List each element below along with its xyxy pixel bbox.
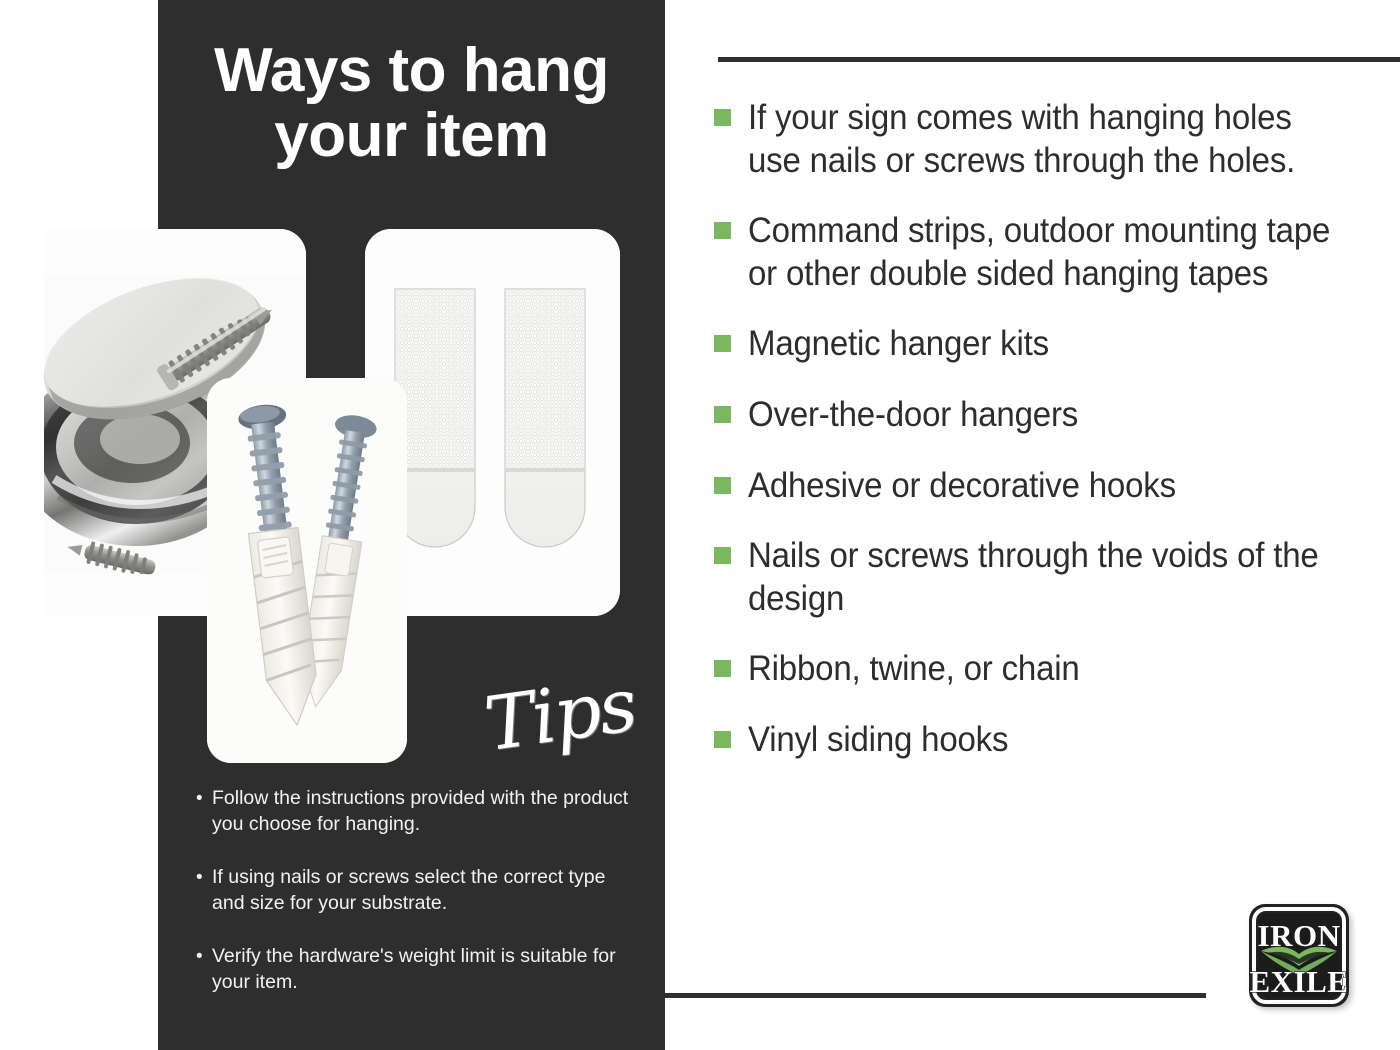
method-item-text: Nails or screws through the voids of the…	[748, 534, 1335, 619]
logo-bottom-word: EXILE	[1250, 964, 1349, 999]
square-bullet-icon	[714, 477, 731, 494]
method-item-text: Command strips, outdoor mounting tape or…	[748, 209, 1335, 294]
method-item-text: Adhesive or decorative hooks	[748, 464, 1335, 507]
bullet-dot-icon: •	[196, 786, 212, 811]
method-list-item: If your sign comes with hanging holes us…	[714, 96, 1379, 181]
bullet-dot-icon: •	[196, 944, 212, 969]
tips-item-text: If using nails or screws select the corr…	[212, 865, 636, 917]
method-list-item: Command strips, outdoor mounting tape or…	[714, 209, 1379, 294]
method-list-item: Adhesive or decorative hooks	[714, 464, 1379, 507]
logo-top-word: IRON	[1258, 918, 1341, 953]
hanging-methods-list: If your sign comes with hanging holes us…	[714, 96, 1379, 761]
method-item-text: Ribbon, twine, or chain	[748, 647, 1335, 690]
iron-exile-logo: IRON EXILE	[1245, 898, 1357, 1018]
tips-heading: Tips	[463, 643, 658, 787]
square-bullet-icon	[714, 335, 731, 352]
screws-anchors-art	[207, 378, 407, 763]
screws-anchors-photo	[207, 378, 407, 763]
page-title-line-1: Ways to hang	[170, 38, 653, 103]
method-list-item: Vinyl siding hooks	[714, 718, 1379, 761]
method-item-text: If your sign comes with hanging holes us…	[748, 96, 1335, 181]
page-title: Ways to hang your item	[158, 38, 665, 168]
tips-item-text: Verify the hardware's weight limit is su…	[212, 944, 636, 996]
method-list-item: Magnetic hanger kits	[714, 322, 1379, 365]
method-list-item: Over-the-door hangers	[714, 393, 1379, 436]
square-bullet-icon	[714, 406, 731, 423]
tips-item-text: Follow the instructions provided with th…	[212, 786, 636, 838]
square-bullet-icon	[714, 660, 731, 677]
method-list-item: Nails or screws through the voids of the…	[714, 534, 1379, 619]
bottom-divider	[661, 993, 1206, 998]
method-item-text: Vinyl siding hooks	[748, 718, 1335, 761]
method-list-item: Ribbon, twine, or chain	[714, 647, 1379, 690]
iron-exile-logo-mark: IRON EXILE	[1245, 898, 1357, 1018]
square-bullet-icon	[714, 547, 731, 564]
square-bullet-icon	[714, 109, 731, 126]
top-divider	[718, 57, 1400, 62]
square-bullet-icon	[714, 731, 731, 748]
tips-list-item: • Follow the instructions provided with …	[196, 786, 636, 838]
tips-list: • Follow the instructions provided with …	[196, 786, 636, 996]
tips-list-item: • If using nails or screws select the co…	[196, 865, 636, 917]
tips-list-item: • Verify the hardware's weight limit is …	[196, 944, 636, 996]
infographic-page: Ways to hang your item	[0, 0, 1400, 1050]
method-item-text: Magnetic hanger kits	[748, 322, 1335, 365]
page-title-line-2: your item	[170, 103, 653, 168]
method-item-text: Over-the-door hangers	[748, 393, 1335, 436]
square-bullet-icon	[714, 222, 731, 239]
bullet-dot-icon: •	[196, 865, 212, 890]
